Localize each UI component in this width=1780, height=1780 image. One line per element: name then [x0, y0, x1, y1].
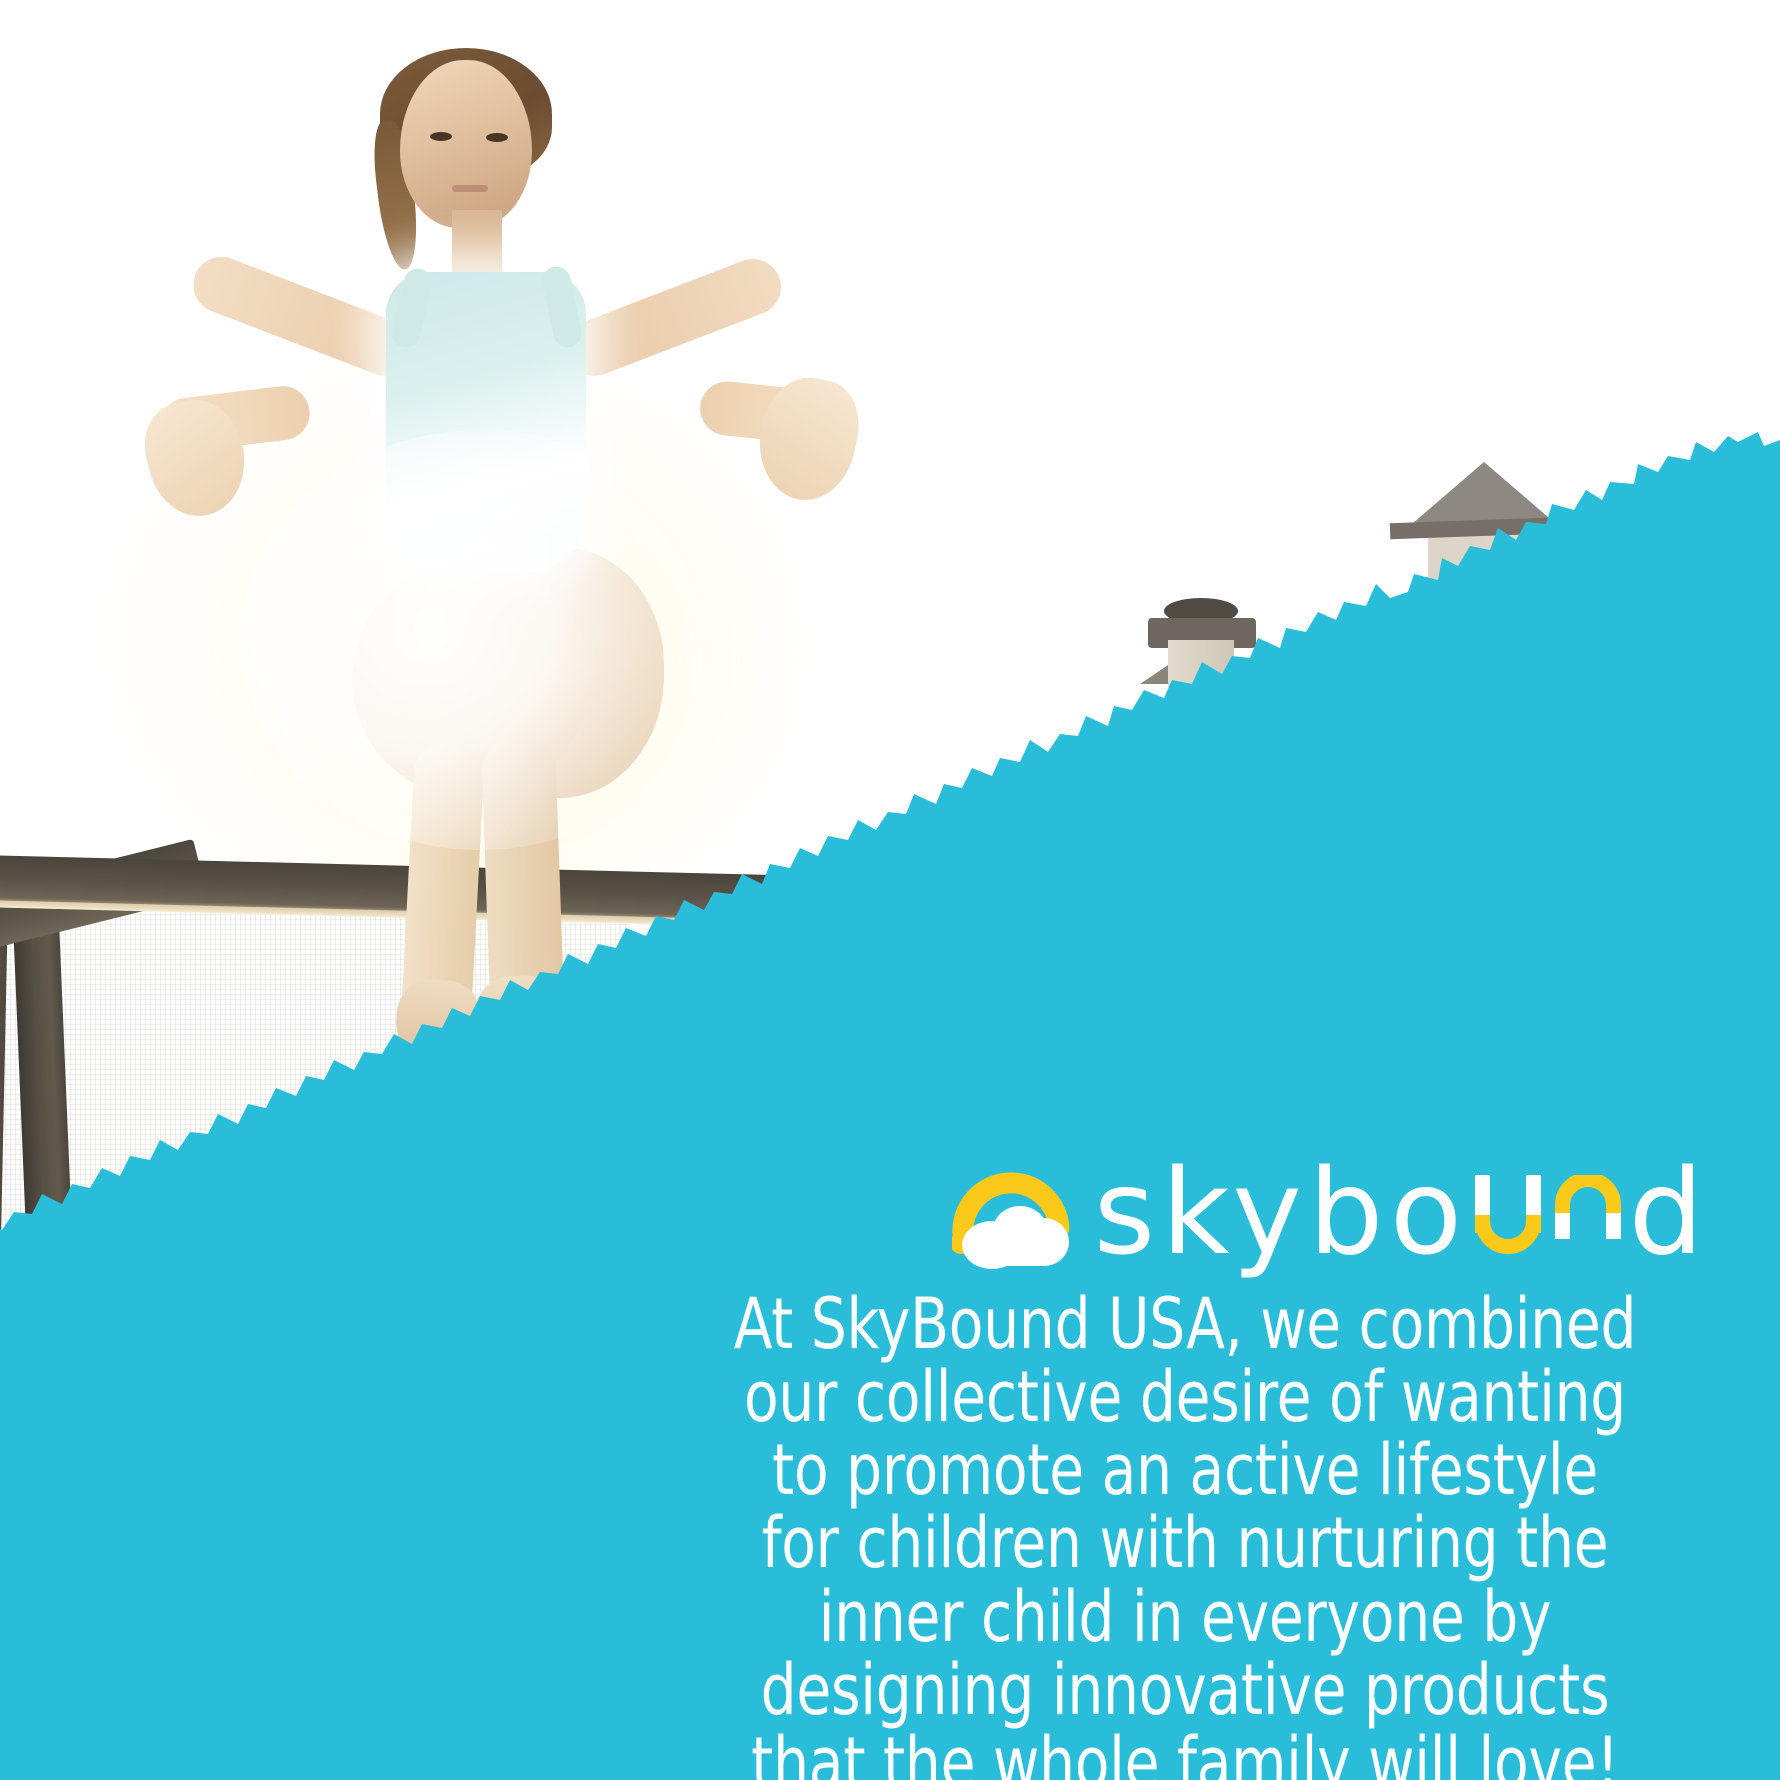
wordmark: skyb o [1094, 1153, 1710, 1271]
eye-right [486, 133, 508, 142]
girl-jumping [0, 0, 1000, 1100]
wordmark-letter-n [1551, 1169, 1625, 1253]
promo-graphic: skyb o [0, 0, 1780, 1780]
chimney-icon [1168, 640, 1234, 840]
foot-right [474, 974, 565, 1072]
brand-block: skyb o [660, 1150, 1748, 1780]
wordmark-part-3: d [1629, 1153, 1710, 1271]
rooftop-body [1428, 530, 1540, 626]
mouth [452, 185, 488, 192]
wordmark-letter-u [1471, 1169, 1545, 1253]
wordmark-part-1: skyb [1094, 1153, 1390, 1271]
logo-lockup: skyb o [660, 1150, 1748, 1274]
head [400, 60, 532, 228]
sun-cloud-icon [952, 1150, 1080, 1274]
wordmark-part-2: o [1390, 1153, 1469, 1271]
eye-left [430, 132, 452, 141]
arm-right [558, 251, 789, 384]
foot-left [393, 977, 483, 1073]
brand-tagline: At SkyBound USA, we combined our collect… [713, 1288, 1658, 1780]
